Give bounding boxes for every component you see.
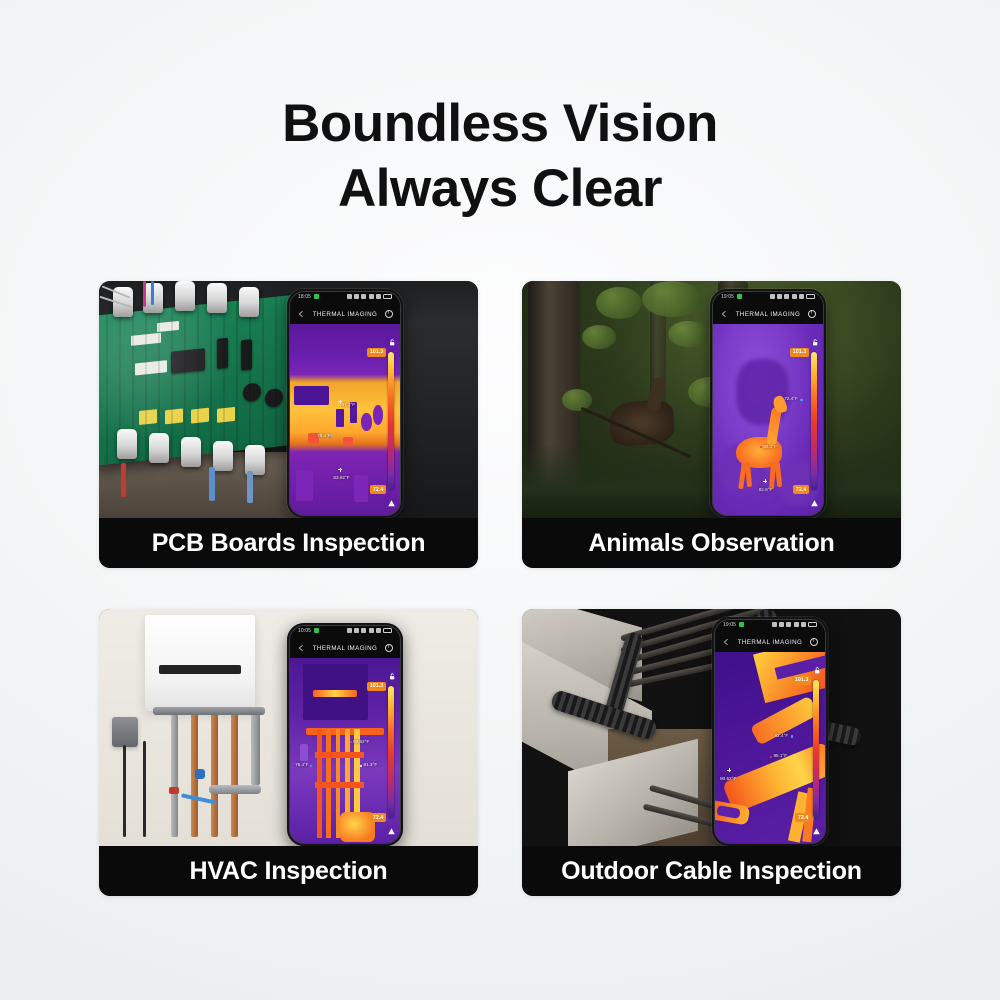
card-caption: PCB Boards Inspection — [99, 518, 478, 568]
phone-mockup-hvac: 10:05 THERMAL IMAGING i — [287, 623, 403, 846]
use-case-card-hvac[interactable]: 10:05 THERMAL IMAGING i — [99, 609, 478, 896]
use-case-card-outdoor[interactable]: 19:05 THERMAL IMAGING i — [522, 609, 901, 896]
use-case-card-pcb[interactable]: 18:05 THERMAL IMAGING i — [99, 281, 478, 568]
card-caption: Outdoor Cable Inspection — [522, 846, 901, 896]
headline-line-1: Boundless Vision — [282, 94, 718, 153]
use-case-grid: 18:05 THERMAL IMAGING i — [99, 281, 901, 898]
use-case-card-animals[interactable]: 19:05 THERMAL IMAGING i — [522, 281, 901, 568]
card-caption: HVAC Inspection — [99, 846, 478, 896]
card-caption: Animals Observation — [522, 518, 901, 568]
page-title: Boundless Vision Always Clear — [0, 92, 1000, 221]
phone-mockup-animals: 19:05 THERMAL IMAGING i — [710, 289, 826, 518]
headline-line-2: Always Clear — [0, 157, 1000, 222]
phone-mockup-pcb: 18:05 THERMAL IMAGING i — [287, 289, 403, 518]
phone-mockup-outdoor: 19:05 THERMAL IMAGING i — [712, 617, 828, 846]
